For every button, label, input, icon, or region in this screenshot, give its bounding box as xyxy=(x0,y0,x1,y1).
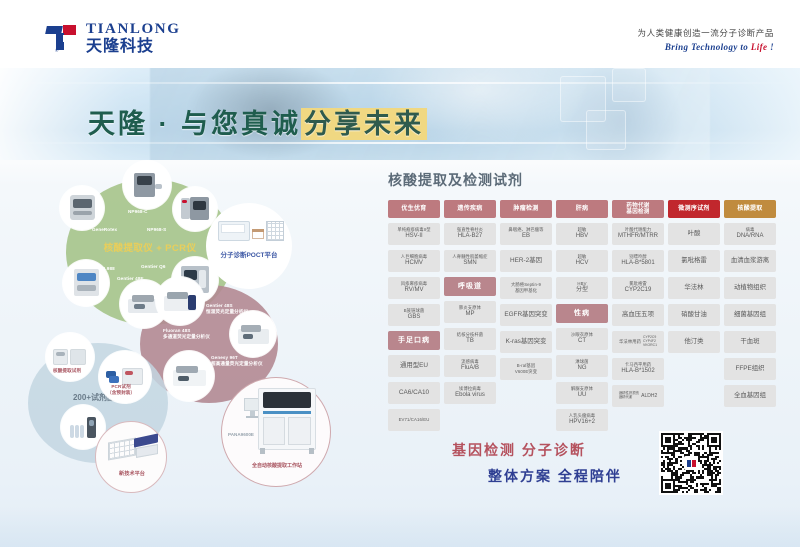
catalog-item[interactable]: 流感病毒FluA/B xyxy=(444,355,496,377)
item-title: 通用型EU xyxy=(400,362,428,370)
item-note: 酒精性肝损伤酒精代谢 xyxy=(619,392,639,400)
catalog-item[interactable]: 华法林用药CYP2C9CYP4F2VKORC1 xyxy=(612,331,664,353)
column-header[interactable]: 优生优育 xyxy=(388,200,440,218)
catalog-columns: 优生优育单纯疱疹病毒II型HSV-II人巨细胞病毒HCMV风疹麻疹病毒RV/MV… xyxy=(388,200,788,431)
item-title: UU xyxy=(578,392,587,400)
logo-text-en: TIANLONG xyxy=(86,22,180,37)
item-title: 他汀类 xyxy=(684,338,703,346)
catalog-item[interactable]: B-raf基因V600E突变 xyxy=(500,358,552,380)
item-title: CYP2C19 xyxy=(625,287,652,295)
device-caption: NP968-S xyxy=(147,227,166,233)
device-gentier-48s[interactable] xyxy=(156,277,204,325)
item-title: 华法林 xyxy=(684,284,703,292)
device-caption: TL988 xyxy=(101,266,115,272)
footer-slogan: 基因检测 分子诊断 整体方案 全程陪伴 xyxy=(452,440,622,486)
column-header[interactable]: 遗传疾病 xyxy=(444,200,496,218)
item-title: CT xyxy=(578,338,586,346)
item-title: GBS xyxy=(408,314,421,322)
catalog-item[interactable]: 叶酸代谢能力MTHFR/MTRR xyxy=(612,223,664,245)
reagent-caption: PCR试剂 （含预封装） xyxy=(107,384,135,397)
item-title: 呼吸道 xyxy=(458,282,482,291)
item-title: MP xyxy=(466,311,475,319)
catalog-item[interactable]: 强直性脊柱炎HLA-B27 xyxy=(444,223,496,245)
qr-code[interactable] xyxy=(659,431,723,495)
catalog-item[interactable]: 肺炎支原体MP xyxy=(444,301,496,323)
item-subtitle: 华法林用药 xyxy=(619,339,641,345)
catalog-item[interactable]: EGFR基因突变 xyxy=(500,304,552,326)
item-inline-row: 酒精性肝损伤酒精代谢ALDH2 xyxy=(619,392,657,400)
item-subtitle: 鼻咽癌、淋巴瘤等 xyxy=(508,227,543,233)
catalog-column: 微测序试剂叶酸氯吡格雷华法林硝酸甘油他汀类 xyxy=(668,200,720,353)
catalog-item[interactable]: HER-2基因 xyxy=(500,250,552,272)
catalog-item[interactable]: 结核分枝杆菌TB xyxy=(444,328,496,350)
item-title: K-ras基因突变 xyxy=(506,338,547,346)
catalog-column: 遗传疾病强直性脊柱炎HLA-B27人脊髓性肌萎缩症SMN呼吸道肺炎支原体MP结核… xyxy=(444,200,496,404)
slogan-line-2: 整体方案 全程陪伴 xyxy=(488,466,622,486)
workstation-circle[interactable]: PANA9600E 全自动核酸提取工作站 xyxy=(221,377,331,487)
item-subtitle: 沙眼衣原体 xyxy=(571,332,593,338)
newtech-label: 新技术平台 xyxy=(96,470,168,477)
slogan-line-1: 基因检测 分子诊断 xyxy=(452,440,622,460)
poct-platform-circle[interactable]: 分子诊断POCT平台 xyxy=(206,203,292,289)
item-subtitle: 基因甲基化 xyxy=(515,288,537,294)
column-header[interactable]: 药物代谢基因检测 xyxy=(612,200,664,218)
reagent-caption: 核酸提取试剂 xyxy=(53,368,81,374)
catalog-item[interactable]: 沙眼衣原体CT xyxy=(556,328,608,350)
item-title: 血清血浆游离 xyxy=(731,257,769,265)
catalog-item[interactable]: 风疹麻疹病毒RV/MV xyxy=(388,277,440,299)
item-subtitle: 流感病毒 xyxy=(461,359,479,365)
item-subtitle: B族链球菌 xyxy=(404,308,425,314)
item-subtitle: 单纯疱疹病毒II型 xyxy=(397,227,430,233)
catalog-item[interactable]: 人脊髓性肌萎缩症SMN xyxy=(444,250,496,272)
catalog-item[interactable]: 人巨细胞病毒HCMV xyxy=(388,250,440,272)
panel-title: 核酸提取及检测试剂 xyxy=(388,170,788,190)
item-title: CA6/CA10 xyxy=(399,389,429,397)
device-np968c[interactable] xyxy=(123,161,171,209)
catalog-item[interactable]: 埃博拉病毒Ebola virus xyxy=(444,382,496,404)
item-title: MTHFR/MTRR xyxy=(618,233,658,241)
item-subtitle: 解脲支原体 xyxy=(571,386,593,392)
page-header: ® TIANLONG 天隆科技 为人类健康创造一流分子诊断产品 Bring Te… xyxy=(0,0,800,68)
catalog-subheader[interactable]: 手足口病 xyxy=(388,331,440,350)
catalog-item[interactable]: 氯吡格雷 xyxy=(668,250,720,272)
catalog-item[interactable]: 卡马西平用药HLA-B*1502 xyxy=(612,358,664,380)
item-title: Ebola virus xyxy=(455,392,485,400)
catalog-item[interactable]: 细菌基因组 xyxy=(724,304,776,326)
device-caption: Fluoran 48S 多通道荧光定量分析仪 xyxy=(163,328,210,341)
catalog-item[interactable]: 淋球菌NG xyxy=(556,355,608,377)
device-caption: GeneRotex xyxy=(92,227,117,233)
device-caption: Genesy 96T 超高通量荧光定量分析仪 xyxy=(211,355,263,368)
item-title: HLA-B*5801 xyxy=(621,260,654,268)
item-title: 细菌基因组 xyxy=(734,311,766,319)
item-subtitle: 埃博拉病毒 xyxy=(459,386,481,392)
catalog-item[interactable]: 他汀类 xyxy=(668,331,720,353)
catalog-item[interactable]: 动植物组织 xyxy=(724,277,776,299)
device-caption: NP968-C xyxy=(128,209,148,215)
device-desc: 超高通量荧光定量分析仪 xyxy=(211,361,263,366)
item-title: RV/MV xyxy=(405,287,424,295)
item-title: TB xyxy=(466,338,474,346)
item-title: 性病 xyxy=(574,309,590,318)
item-title: 硝酸甘油 xyxy=(681,311,707,319)
catalog-item[interactable]: 大肠癌Septin-9基因甲基化 xyxy=(500,277,552,299)
catalog-item[interactable]: EV71/CA16/EU xyxy=(388,409,440,431)
device-name: Genesy 96T xyxy=(211,355,238,360)
item-title: 手足口病 xyxy=(398,336,430,345)
item-subtitle: 肺炎支原体 xyxy=(459,305,481,311)
catalog-item[interactable]: 氯吡格雷CYP2C19 xyxy=(612,277,664,299)
catalog-item[interactable]: 超敏HBV xyxy=(556,223,608,245)
item-subtitle: 人巨细胞病毒 xyxy=(401,254,427,260)
item-title: EB xyxy=(522,233,530,241)
item-subtitle: 风疹麻疹病毒 xyxy=(401,281,427,287)
catalog-item[interactable]: 全血基因组 xyxy=(724,385,776,407)
tagline-en-life: Life xyxy=(751,42,768,52)
tagline-english: Bring Technology to Life ! xyxy=(637,42,774,52)
item-title: HCMV xyxy=(405,260,423,268)
item-title: 分型 xyxy=(576,287,588,295)
catalog-item[interactable]: 解脲支原体UU xyxy=(556,382,608,404)
pcr-reagent-name: PCR试剂 xyxy=(111,384,130,389)
catalog-item[interactable]: HBV分型 xyxy=(556,277,608,299)
brand-logo[interactable]: ® TIANLONG 天隆科技 xyxy=(46,22,180,55)
qr-canvas xyxy=(661,433,721,493)
catalog-item[interactable]: 病毒DNA/RNA xyxy=(724,223,776,245)
item-title: 干血斑 xyxy=(740,338,759,346)
header-tagline: 为人类健康创造一流分子诊断产品 Bring Technology to Life… xyxy=(637,27,774,52)
item-subtitle: V600E突变 xyxy=(515,369,537,375)
catalog-column: 肿瘤检测鼻咽癌、淋巴瘤等EBHER-2基因大肠癌Septin-9基因甲基化EGF… xyxy=(500,200,552,380)
item-subtitle: 叶酸代谢能力 xyxy=(625,227,651,233)
catalog-column: 肝病超敏HBV超敏HCVHBV分型性病沙眼衣原体CT淋球菌NG解脲支原体UU人乳… xyxy=(556,200,608,431)
poster-page: ® TIANLONG 天隆科技 为人类健康创造一流分子诊断产品 Bring Te… xyxy=(0,0,800,547)
catalog-item[interactable]: 别嘌呤醇HLA-B*5801 xyxy=(612,250,664,272)
pcr-reagent-sub: （含预封装） xyxy=(107,390,135,395)
catalog-column: 优生优育单纯疱疹病毒II型HSV-II人巨细胞病毒HCMV风疹麻疹病毒RV/MV… xyxy=(388,200,440,431)
reagent-catalog-panel: 核酸提取及检测试剂 优生优育单纯疱疹病毒II型HSV-II人巨细胞病毒HCMV风… xyxy=(388,170,788,431)
item-title: ALDH2 xyxy=(641,393,657,400)
catalog-item[interactable]: 华法林 xyxy=(668,277,720,299)
item-subtitle: 卡马西平用药 xyxy=(625,362,651,368)
catalog-subheader[interactable]: 呼吸道 xyxy=(444,277,496,296)
column-header[interactable]: 肝病 xyxy=(556,200,608,218)
item-subtitle: 病毒 xyxy=(746,227,755,233)
item-title: DNA/RNA xyxy=(736,233,763,241)
item-title: HSV-II xyxy=(405,233,422,241)
item-subtitle: 超敏 xyxy=(578,227,587,233)
catalog-item[interactable]: 超敏HCV xyxy=(556,250,608,272)
hero-stripe xyxy=(0,142,800,144)
footer-gradient xyxy=(0,507,800,547)
device-name: Gentier 48S xyxy=(206,303,233,308)
catalog-subheader[interactable]: 性病 xyxy=(556,304,608,323)
item-subtitle: 别嘌呤醇 xyxy=(629,254,647,260)
device-name: Fluoran 48S xyxy=(163,328,190,333)
hero-title: 天隆 · 与您真诚分享未来 xyxy=(88,102,427,141)
hero-title-plain: 天隆 · 与您真诚 xyxy=(88,109,301,139)
device-genesy-96t[interactable] xyxy=(164,351,214,401)
hero-banner: 天隆 · 与您真诚分享未来 xyxy=(0,62,800,160)
item-inline-row: 华法林用药CYP2C9CYP4F2VKORC1 xyxy=(619,336,657,348)
item-title: HER-2基因 xyxy=(510,257,542,265)
item-subtitle: 氯吡格雷 xyxy=(629,281,647,287)
tagline-chinese: 为人类健康创造一流分子诊断产品 xyxy=(637,27,774,39)
item-title: FFPE组织 xyxy=(735,365,764,373)
catalog-item[interactable]: 血清血浆游离 xyxy=(724,250,776,272)
item-title: 动植物组织 xyxy=(734,284,766,292)
item-subtitle: 人乳头瘤病毒 xyxy=(569,413,595,419)
item-title: EGFR基因突变 xyxy=(504,311,547,319)
catalog-column: 药物代谢基因检测叶酸代谢能力MTHFR/MTRR别嘌呤醇HLA-B*5801氯吡… xyxy=(612,200,664,407)
item-title: 氯吡格雷 xyxy=(681,257,707,265)
column-header[interactable]: 微测序试剂 xyxy=(668,200,720,218)
hero-title-highlight: 分享未来 xyxy=(301,108,427,140)
catalog-item[interactable]: 叶酸 xyxy=(668,223,720,245)
catalog-item[interactable]: 单纯疱疹病毒II型HSV-II xyxy=(388,223,440,245)
tianlong-logo-icon: ® xyxy=(46,24,80,54)
catalog-item[interactable]: 鼻咽癌、淋巴瘤等EB xyxy=(500,223,552,245)
item-title: HLA-B*1502 xyxy=(621,368,654,376)
column-header[interactable]: 肿瘤检测 xyxy=(500,200,552,218)
catalog-item[interactable]: 高血压五项 xyxy=(612,304,664,326)
item-title: 全血基因组 xyxy=(734,392,766,400)
catalog-item[interactable]: FFPE组织 xyxy=(724,358,776,380)
item-subtitle: 强直性脊柱炎 xyxy=(457,227,483,233)
device-caption: Gentier 48E xyxy=(117,276,144,282)
device-fluoran-48s[interactable] xyxy=(230,311,276,357)
hero-stripe xyxy=(0,82,800,84)
catalog-item[interactable]: 干血斑 xyxy=(724,331,776,353)
item-title: NG xyxy=(578,365,587,373)
item-subtitle: HBV xyxy=(577,281,586,287)
workstation-desc: 全自动核酸提取工作站 xyxy=(222,462,332,469)
catalog-item[interactable]: B族链球菌GBS xyxy=(388,304,440,326)
tagline-en-part1: Bring Technology to xyxy=(665,42,751,52)
green-group-label: 核酸提取仪 + PCR仪 xyxy=(74,243,226,255)
qr-center-logo-icon xyxy=(684,456,698,470)
workstation-name: PANA9600E xyxy=(228,432,254,437)
item-gene-list: CYP2C9CYP4F2VKORC1 xyxy=(643,336,657,348)
item-subtitle: 结核分枝杆菌 xyxy=(457,332,483,338)
catalog-item[interactable]: K-ras基因突变 xyxy=(500,331,552,353)
poct-label: 分子诊断POCT平台 xyxy=(206,249,292,259)
device-generotex[interactable] xyxy=(60,186,104,230)
item-subtitle: EV71/CA16/EU xyxy=(399,417,430,423)
item-title: SMN xyxy=(463,260,476,268)
tagline-en-part3: ! xyxy=(767,42,774,52)
catalog-item[interactable]: 酒精性肝损伤酒精代谢ALDH2 xyxy=(612,385,664,407)
item-subtitle: 超敏 xyxy=(578,254,587,260)
product-ecosystem-diagram: 核酸提取仪 + PCR仪 200+试剂品种 NP968-C GeneRotex xyxy=(10,165,380,495)
item-title: HLA-B27 xyxy=(458,233,482,241)
item-title: FluA/B xyxy=(461,365,479,373)
device-desc: 多通道荧光定量分析仪 xyxy=(163,334,210,339)
newtech-circle[interactable]: 新技术平台 xyxy=(95,421,167,493)
item-subtitle: 人脊髓性肌萎缩症 xyxy=(452,254,487,260)
device-caption: Gentier Q6 xyxy=(141,264,166,270)
catalog-item[interactable]: 通用型EU xyxy=(388,355,440,377)
item-title: HPV16+2 xyxy=(569,419,595,427)
catalog-item[interactable]: CA6/CA10 xyxy=(388,382,440,404)
catalog-column: 核酸提取病毒DNA/RNA血清血浆游离动植物组织细菌基因组干血斑FFPE组织全血… xyxy=(724,200,776,407)
catalog-item[interactable]: 人乳头瘤病毒HPV16+2 xyxy=(556,409,608,431)
item-title: 叶酸 xyxy=(688,230,701,238)
item-title: HBV xyxy=(576,233,588,241)
logo-text-cn: 天隆科技 xyxy=(86,39,180,55)
column-header[interactable]: 核酸提取 xyxy=(724,200,776,218)
item-title: 高血压五项 xyxy=(622,311,654,319)
catalog-item[interactable]: 硝酸甘油 xyxy=(668,304,720,326)
item-title: HCV xyxy=(576,260,589,268)
item-subtitle: 淋球菌 xyxy=(575,359,588,365)
